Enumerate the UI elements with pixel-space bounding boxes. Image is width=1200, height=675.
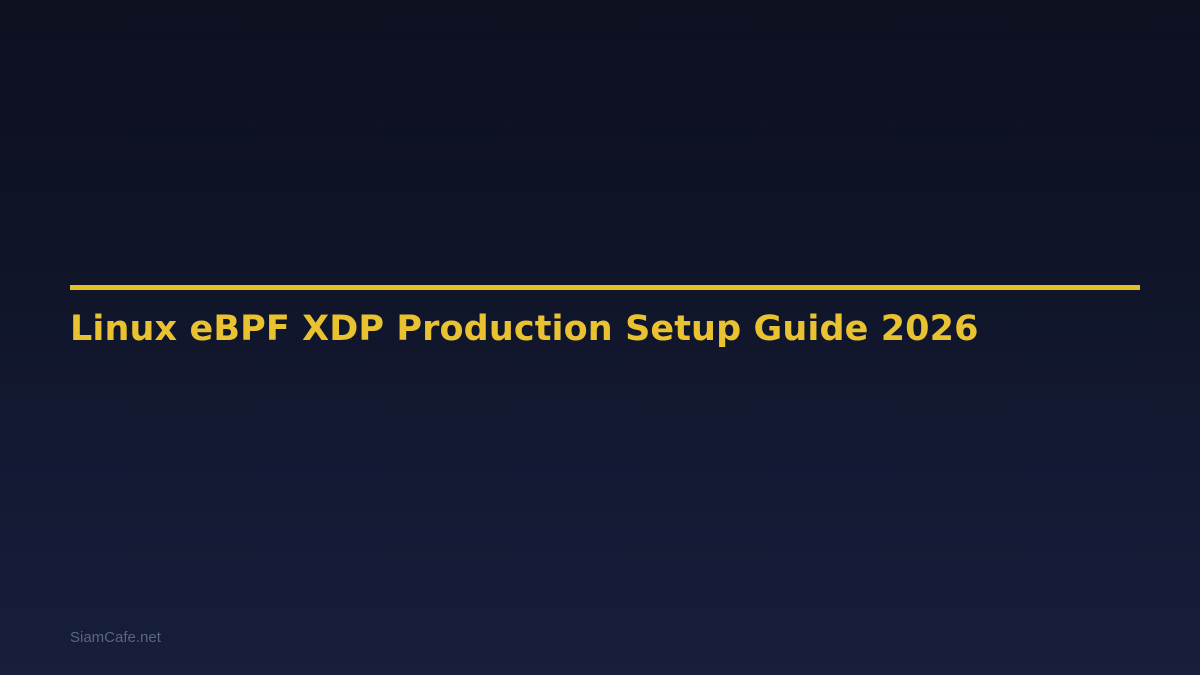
title-slide: Linux eBPF XDP Production Setup Guide 20… bbox=[0, 0, 1200, 675]
page-title: Linux eBPF XDP Production Setup Guide 20… bbox=[70, 290, 1140, 347]
footer: SiamCafe.net bbox=[70, 629, 161, 647]
title-block: Linux eBPF XDP Production Setup Guide 20… bbox=[70, 285, 1140, 347]
footer-brand-label: SiamCafe.net bbox=[70, 629, 161, 647]
